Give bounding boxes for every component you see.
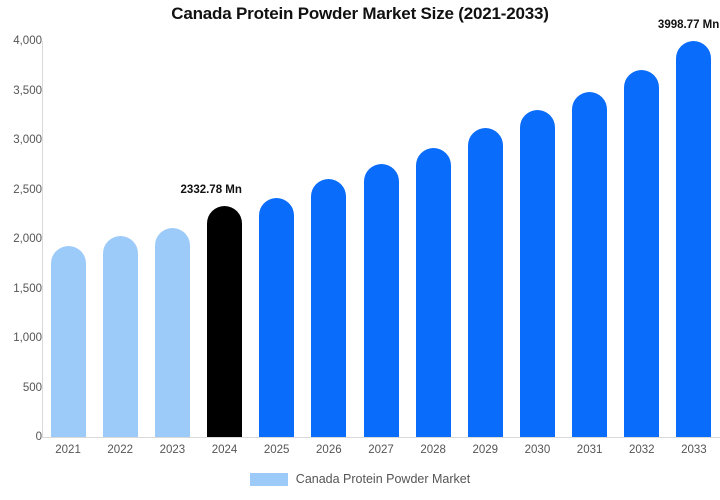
x-axis-tick-label: 2033	[668, 444, 720, 456]
bar-2024[interactable]	[207, 206, 242, 437]
x-axis-tick-label: 2030	[511, 444, 563, 456]
chart-title: Canada Protein Powder Market Size (2021-…	[0, 4, 720, 24]
y-axis: 4,0003,5003,0002,5002,0001,5001,0005000	[0, 0, 42, 500]
bar-2033[interactable]	[676, 41, 711, 437]
y-axis-tick-label: 1,000	[2, 332, 42, 344]
bar-2031[interactable]	[572, 92, 607, 437]
y-axis-tick-label: 0	[2, 431, 42, 443]
x-axis-tick-label: 2032	[616, 444, 668, 456]
bar-2026[interactable]	[311, 179, 346, 437]
y-axis-tick-label: 2,000	[2, 233, 42, 245]
bar-2029[interactable]	[468, 128, 503, 437]
data-label-2024: 2332.78 Mn	[181, 184, 242, 196]
x-axis-tick-label: 2027	[355, 444, 407, 456]
data-label-2033: 3998.77 Mn	[658, 19, 719, 31]
x-axis-tick-label: 2029	[459, 444, 511, 456]
x-axis-tick-label: 2024	[198, 444, 250, 456]
bar-2023[interactable]	[155, 228, 190, 437]
bar-2022[interactable]	[103, 236, 138, 437]
chart-container: Canada Protein Powder Market Size (2021-…	[0, 0, 720, 500]
bar-2032[interactable]	[624, 70, 659, 437]
bar-2030[interactable]	[520, 110, 555, 437]
y-axis-tick-label: 1,500	[2, 283, 42, 295]
x-axis-tick-label: 2025	[251, 444, 303, 456]
y-axis-tick-label: 4,000	[2, 35, 42, 47]
x-axis-tick-label: 2028	[407, 444, 459, 456]
y-axis-tick-label: 2,500	[2, 184, 42, 196]
x-axis-line	[42, 437, 720, 438]
x-axis-tick-label: 2026	[303, 444, 355, 456]
bar-2028[interactable]	[416, 148, 451, 437]
y-axis-tick-label: 500	[2, 382, 42, 394]
bar-2025[interactable]	[259, 198, 294, 437]
chart-legend: Canada Protein Powder Market	[0, 472, 720, 486]
legend-swatch	[250, 473, 288, 486]
y-axis-tick-label: 3,000	[2, 134, 42, 146]
x-axis-tick-label: 2022	[94, 444, 146, 456]
x-axis-tick-label: 2021	[42, 444, 94, 456]
bar-2027[interactable]	[364, 164, 399, 437]
x-axis-tick-label: 2031	[564, 444, 616, 456]
legend-label[interactable]: Canada Protein Powder Market	[296, 472, 470, 486]
plot-area	[42, 41, 720, 437]
x-axis-tick-label: 2023	[146, 444, 198, 456]
y-axis-tick-label: 3,500	[2, 85, 42, 97]
bar-2021[interactable]	[51, 246, 86, 437]
